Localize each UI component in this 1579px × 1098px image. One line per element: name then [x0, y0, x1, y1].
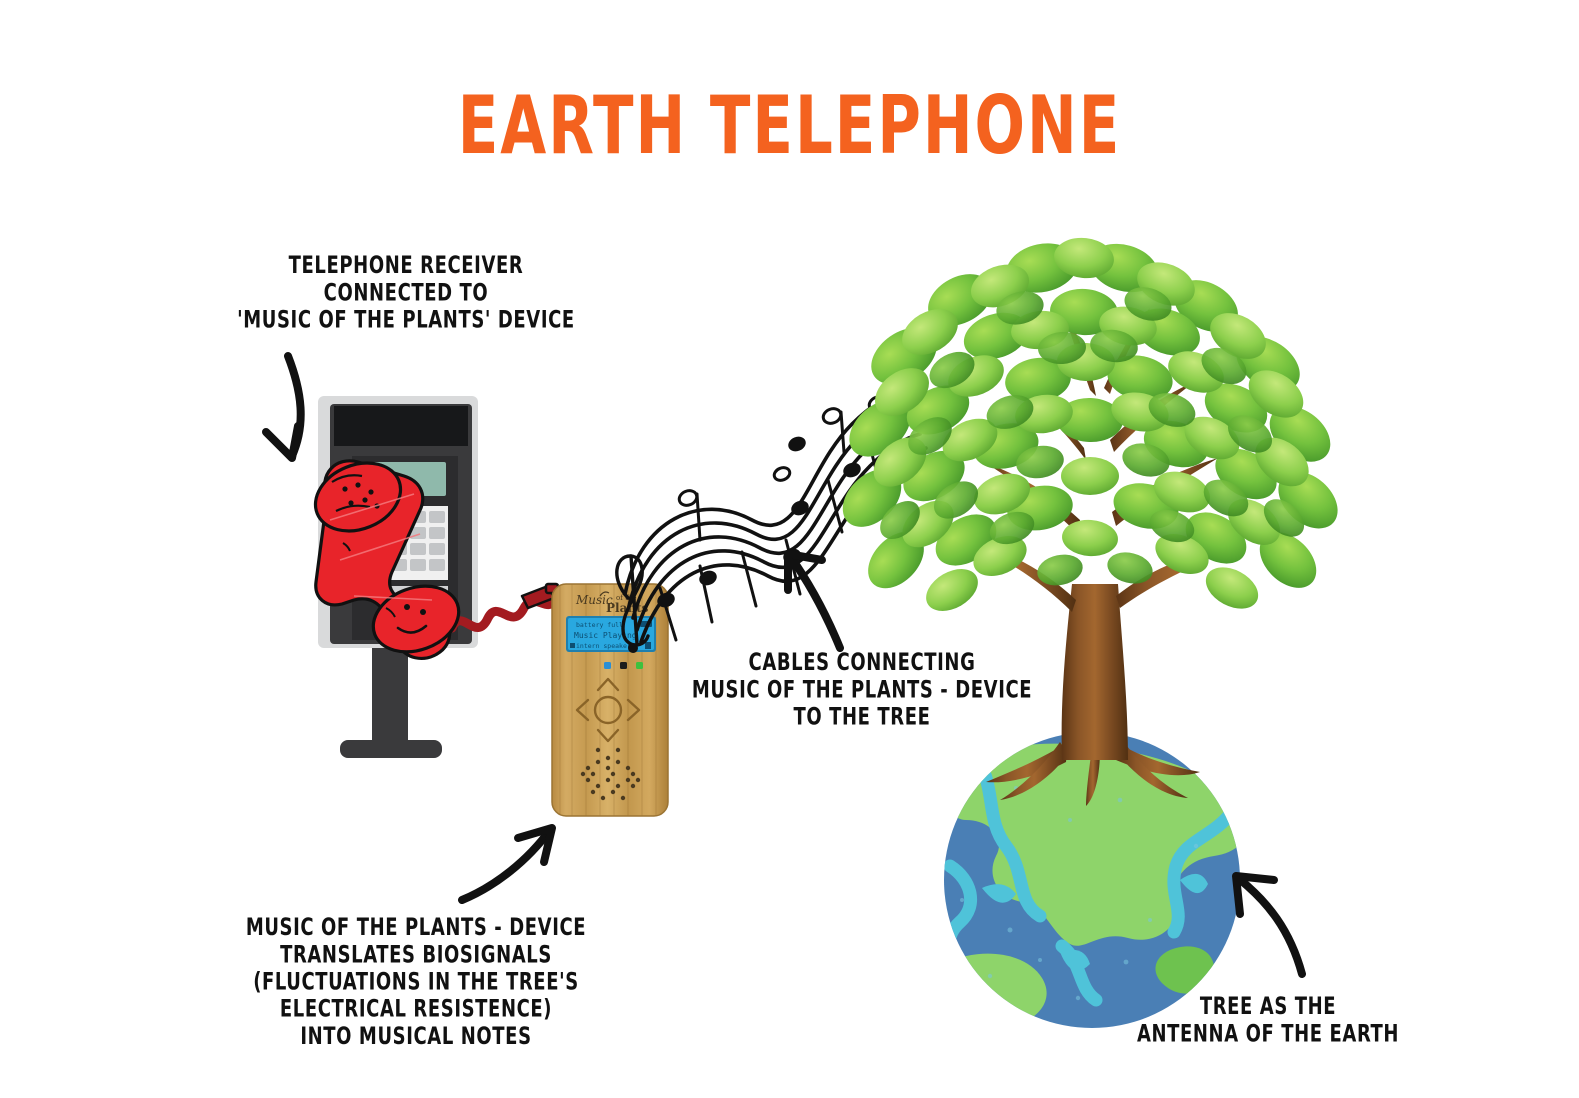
annotation-music-of-the-plants-device: MUSIC OF THE PLANTS - DEVICE TRANSLATES …	[216, 914, 616, 1050]
annotation-tree-as-antenna: TREE AS THE ANTENNA OF THE EARTH	[1103, 993, 1433, 1047]
lcd-line-battery: battery full	[576, 621, 623, 629]
tree-canopy	[832, 235, 1349, 620]
annotation-cables-connecting: CABLES CONNECTING MUSIC OF THE PLANTS - …	[672, 649, 1052, 730]
arrow-to-receiver	[266, 356, 301, 458]
lcd-line-speaker: intern speaker	[576, 642, 631, 650]
arrow-to-earth	[1236, 876, 1302, 974]
arrow-to-device	[462, 828, 552, 900]
infographic-canvas: EARTH TELEPHONE	[0, 0, 1579, 1098]
annotation-telephone-receiver: TELEPHONE RECEIVER CONNECTED TO 'MUSIC O…	[206, 252, 606, 333]
lcd-line-status: Music Playing	[574, 631, 637, 640]
device-status-leds	[604, 662, 643, 669]
